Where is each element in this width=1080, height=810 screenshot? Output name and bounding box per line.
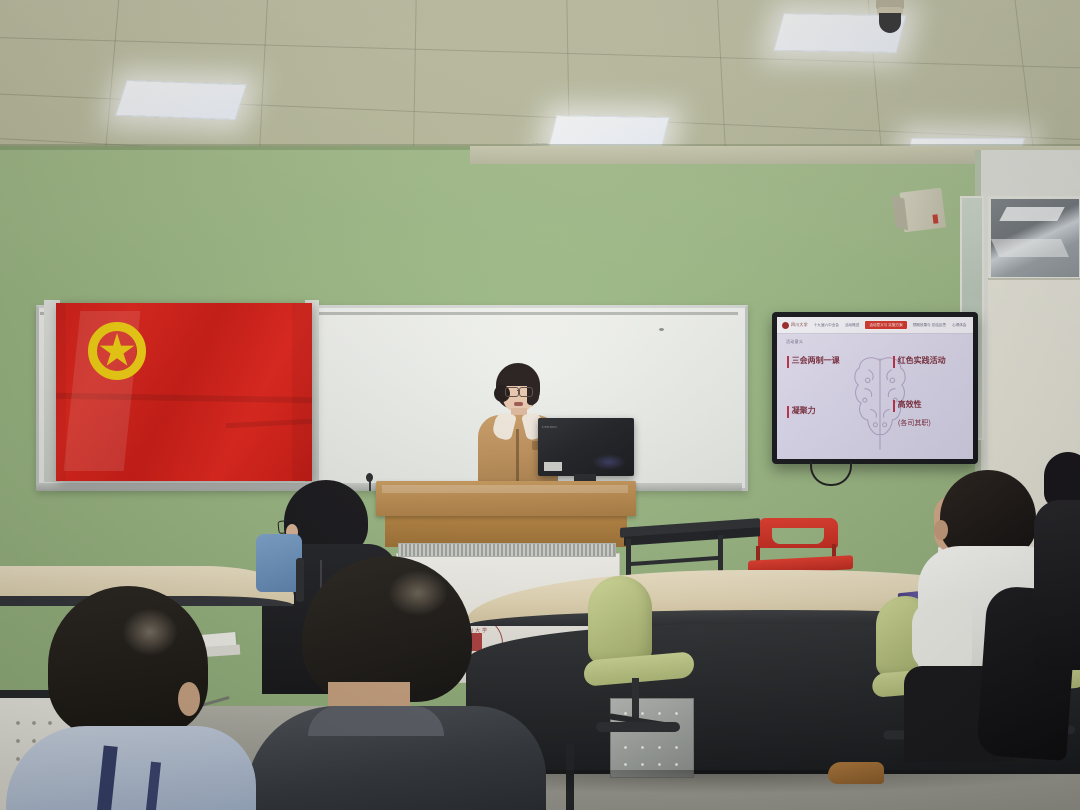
- student-front-center: [272, 556, 522, 810]
- slide-nav-item-1[interactable]: 十九届六中全会: [814, 323, 839, 327]
- perforated-metal-panel: [610, 698, 694, 778]
- ceiling-light-1: [115, 80, 247, 120]
- hair: [940, 470, 1036, 556]
- wall-mounted-display[interactable]: 四川大学 十九届六中全会 活动概述 活动意义与 实施方案 预期效果与 总结反思 …: [772, 312, 978, 464]
- monitor-brand-label: Lenovo: [542, 424, 557, 429]
- display-brand-label: HISENSE: [532, 142, 548, 146]
- slide-nav-item-4[interactable]: 预期效果与 总结反思: [913, 323, 946, 327]
- slide-subtitle: 活动意义: [786, 339, 803, 345]
- microphone-stem: [369, 481, 371, 491]
- slide-label-bottom-right: 高效性: [893, 399, 922, 412]
- gooseneck-microphone-icon: [366, 473, 373, 482]
- monitor-asset-tag: [544, 462, 562, 471]
- blue-polo-shirt: [6, 726, 256, 810]
- slide-nav-item-2[interactable]: 活动概述: [845, 323, 859, 327]
- slide-university-logo: 四川大学: [782, 322, 808, 329]
- classroom-scene: 四川大学 十九届六中全会 活动概述 活动意义与 实施方案 预期效果与 总结反思 …: [0, 0, 1080, 810]
- logo-mark-icon: [782, 322, 789, 329]
- slide-body: 三会两制一课 凝聚力 红色实践活动 高效性 (各司其职): [777, 349, 973, 459]
- shoe: [828, 762, 884, 784]
- student-front-left: [22, 586, 232, 810]
- presentation-slide: 四川大学 十九届六中全会 活动概述 活动意义与 实施方案 预期效果与 总结反思 …: [777, 317, 973, 459]
- slide-logo-text: 四川大学: [791, 322, 808, 328]
- slide-label-bottom-left: 凝聚力: [787, 405, 816, 418]
- youth-league-star-emblem: [88, 322, 146, 380]
- slide-label-bar-icon: [787, 406, 789, 418]
- slide-nav-item-5[interactable]: 心得体会: [952, 323, 966, 327]
- suspended-tile-ceiling: [0, 0, 1080, 152]
- podium-top-surface: [376, 481, 636, 516]
- slide-label-bar-icon: [787, 356, 789, 368]
- hair: [302, 556, 472, 702]
- glasses-icon: [505, 387, 519, 397]
- wall-mounted-speaker: [899, 188, 946, 237]
- dome-security-camera: [876, 0, 904, 32]
- slide-label-bar-icon: [893, 400, 895, 412]
- transom-window: [988, 196, 1080, 280]
- slide-label-top-left: 三会两制一课: [787, 355, 840, 368]
- slide-nav-item-3-active[interactable]: 活动意义与 实施方案: [865, 321, 906, 329]
- podium-monitor[interactable]: Lenovo: [538, 418, 634, 488]
- slide-label-bar-icon: [893, 356, 895, 368]
- slide-label-bottom-right-sub: (各司其职): [898, 419, 931, 429]
- student-far-right: [1038, 452, 1080, 672]
- slide-nav-bar: 四川大学 十九届六中全会 活动概述 活动意义与 实施方案 预期效果与 总结反思 …: [777, 317, 973, 334]
- slide-label-br-main: 高效性: [898, 399, 922, 411]
- podium-vent-grille: [398, 543, 616, 557]
- torso: [1034, 500, 1080, 670]
- slide-label-top-right: 红色实践活动: [893, 355, 946, 368]
